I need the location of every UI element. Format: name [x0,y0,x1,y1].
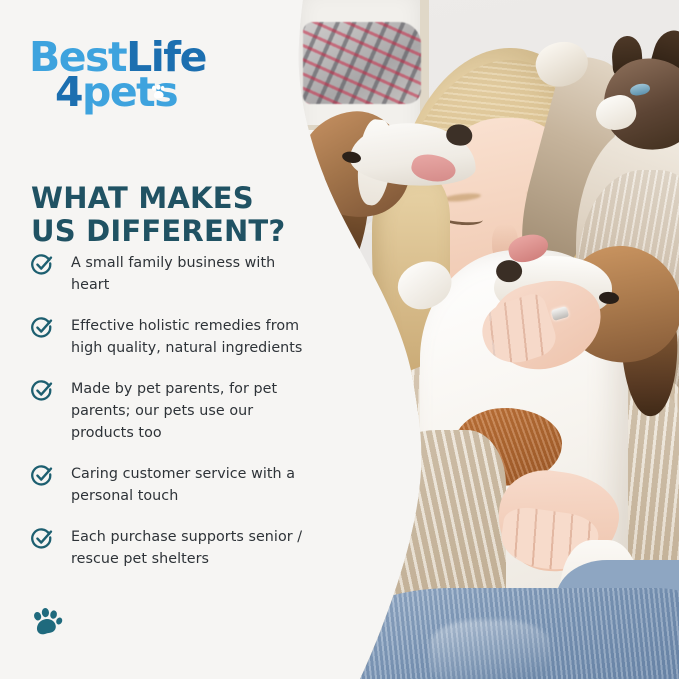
headline-line-2: Us Different? [31,214,285,248]
page-title: What Makes Us Different? [31,182,301,248]
list-item-label: Each purchase supports senior / rescue p… [71,526,311,570]
list-item-label: Made by pet parents, for pet parents; ou… [71,378,311,444]
list-item: Caring customer service with a personal … [30,463,312,507]
list-item: Effective holistic remedies from high qu… [30,315,312,359]
check-circle-icon [30,464,54,488]
dog-center-nose [496,260,522,282]
benefits-list: A small family business with heart Effec… [30,252,312,570]
paw-print-icon [30,606,64,645]
list-item: A small family business with heart [30,252,312,296]
woman-jeans-fold [430,620,550,679]
check-circle-icon [30,316,54,340]
headline-line-1: What Makes [31,181,254,215]
brand-logo[interactable]: BestLife 4pets [29,40,206,111]
check-circle-icon [30,253,54,277]
check-circle-icon [30,527,54,551]
photo-background-blanket [303,22,421,104]
logo-text-4: 4 [55,68,82,116]
list-item: Each purchase supports senior / rescue p… [30,526,312,570]
list-item: Made by pet parents, for pet parents; ou… [30,378,312,444]
advertisement-banner: ✿ ⚘ ❀ ✤ ❁ ✾ ❖ ✦ ❋ ✽ ✿ ⚘ ❀ ✤ ❁ ✾ ❖ ✦ Best… [0,0,679,679]
check-circle-icon [30,379,54,403]
list-item-label: A small family business with heart [71,252,311,296]
left-content-panel: BestLife 4pets What Makes Us Different? … [0,0,310,679]
list-item-label: Caring customer service with a personal … [71,463,311,507]
list-item-label: Effective holistic remedies from high qu… [71,315,311,359]
dog-left-head [294,99,485,249]
